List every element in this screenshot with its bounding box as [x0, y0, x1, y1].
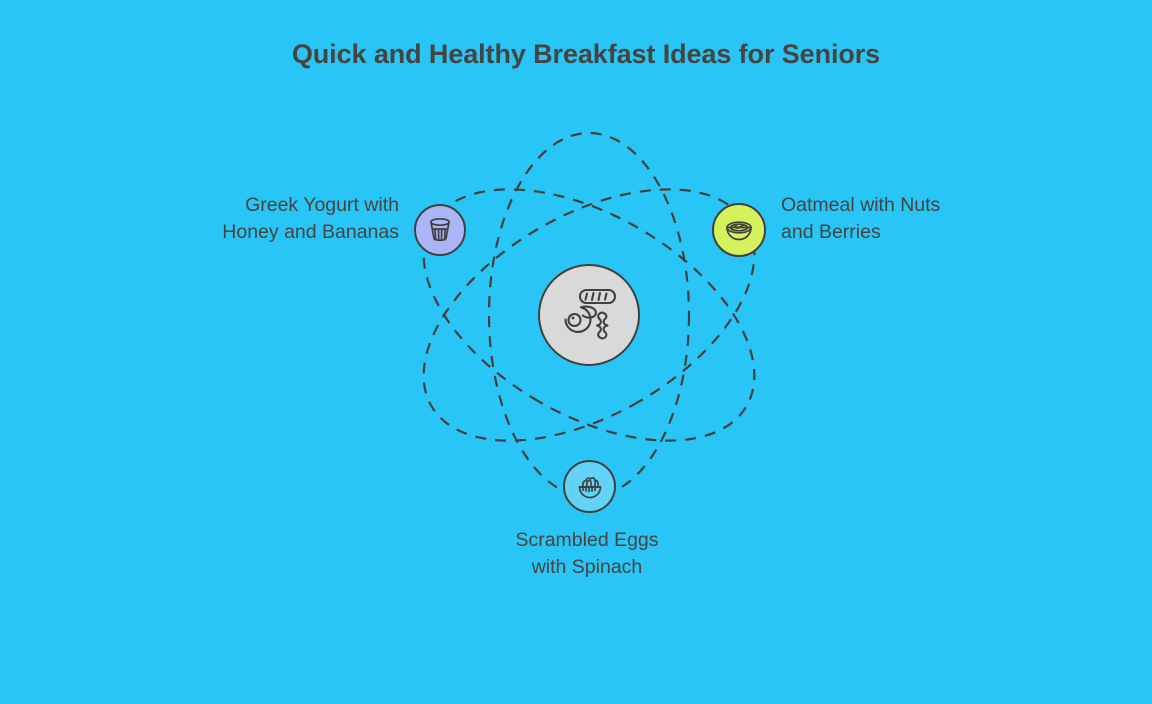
center-node[interactable]: [538, 264, 640, 366]
page-title: Quick and Healthy Breakfast Ideas for Se…: [276, 38, 896, 71]
breakfast-plate-icon: [558, 286, 620, 344]
salad-bowl-icon: [576, 474, 604, 500]
label-greek-yogurt: Greek Yogurt with Honey and Bananas: [219, 192, 399, 245]
node-scrambled-eggs[interactable]: [563, 460, 616, 513]
label-scrambled-eggs: Scrambled Eggs with Spinach: [496, 527, 678, 580]
oatmeal-bowl-icon: [725, 218, 753, 242]
node-oatmeal[interactable]: [712, 203, 766, 257]
diagram-canvas: Quick and Healthy Breakfast Ideas for Se…: [0, 0, 1152, 704]
node-greek-yogurt[interactable]: [414, 204, 466, 256]
yogurt-cup-icon: [428, 217, 452, 243]
label-oatmeal: Oatmeal with Nuts and Berries: [781, 192, 949, 245]
